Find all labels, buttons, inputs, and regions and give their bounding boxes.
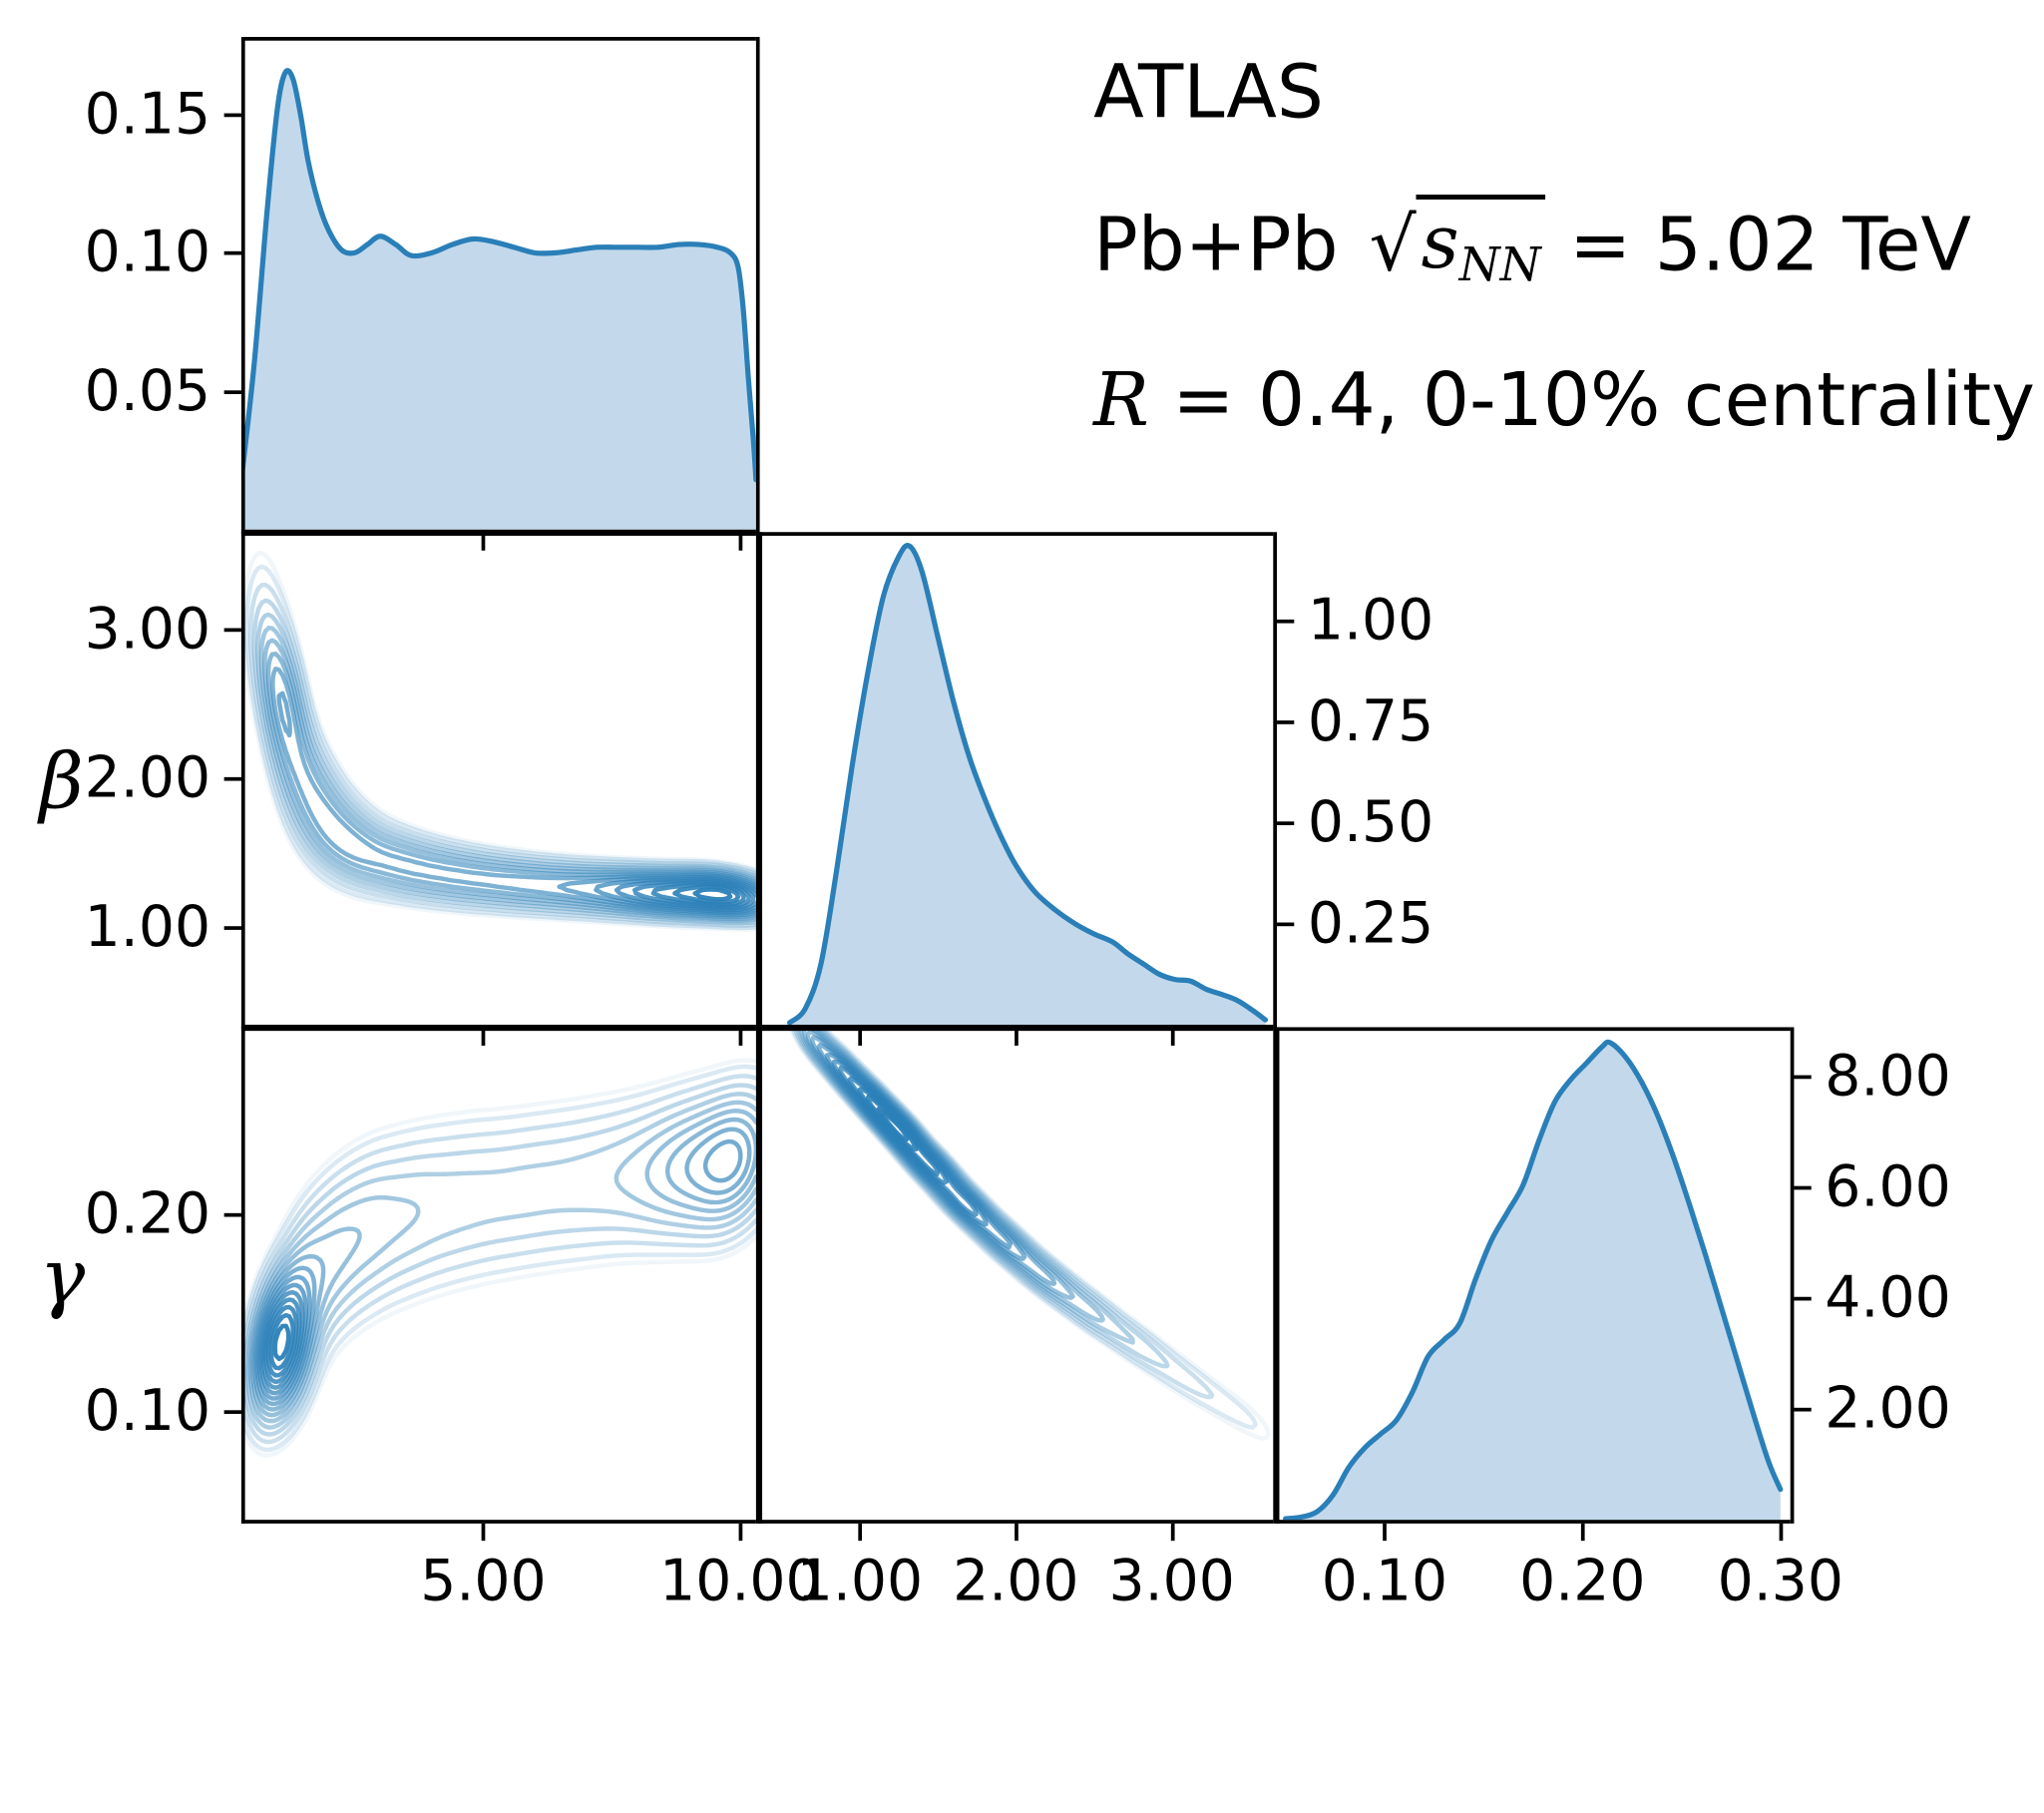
panel-gamma-vs-alpha xyxy=(241,1027,756,1520)
axis-label-beta-y: β xyxy=(39,736,83,826)
annotation-collision-system: Pb+Pb √sNN = 5.02 TeV xyxy=(1093,197,1971,293)
beta-alpha-contours xyxy=(241,532,756,1025)
panel-beta-marginal xyxy=(758,532,1273,1025)
panel-gamma-vs-beta xyxy=(758,1027,1273,1520)
xtick-beta-vs-alpha-1 xyxy=(739,1029,743,1046)
xtick-beta-marginal-2 xyxy=(1170,1029,1174,1046)
yticklabel-alpha-marginal-1: 0.10 xyxy=(0,224,210,280)
annotation-R-symbol: R xyxy=(1093,357,1149,443)
ytick-gamma-vs-alpha-0 xyxy=(224,1410,241,1414)
xtick-gamma-vs-beta-2 xyxy=(1170,1524,1174,1541)
annotation-R-value: = 0.4, 0-10% centrality xyxy=(1149,357,2035,443)
beta-marginal-kde xyxy=(758,532,1273,1025)
xtick-gamma-marginal-2 xyxy=(1780,1524,1784,1541)
yticklabel-beta-vs-alpha-0: 1.00 xyxy=(0,898,210,955)
annotation-jet-radius-centrality: R = 0.4, 0-10% centrality xyxy=(1093,357,2035,443)
spine-top-beta-vs-alpha xyxy=(241,532,756,536)
sqrt-group: √sNN xyxy=(1362,197,1546,293)
yticklabel-r-beta-marginal-2: 0.75 xyxy=(1308,692,1433,749)
ytick-r-gamma-marginal-1 xyxy=(1794,1297,1811,1301)
spine-left-gamma-marginal xyxy=(1276,1027,1280,1523)
spine-top-alpha-marginal xyxy=(241,37,756,41)
ytick-gamma-vs-alpha-1 xyxy=(224,1213,241,1217)
ytick-r-gamma-marginal-2 xyxy=(1794,1186,1811,1190)
ytick-beta-vs-alpha-2 xyxy=(224,628,241,632)
yticklabel-r-beta-marginal-3: 1.00 xyxy=(1308,592,1433,649)
ytick-r-gamma-marginal-0 xyxy=(1794,1408,1811,1412)
xtick-beta-vs-alpha-0 xyxy=(482,1029,486,1046)
xticklabel-gamma-marginal-1: 0.20 xyxy=(1471,1552,1693,1608)
xtick-gamma-vs-beta-1 xyxy=(1015,1524,1019,1541)
radical-sign: √ xyxy=(1369,202,1416,287)
xtick-alpha-marginal-1 xyxy=(739,533,743,550)
yticklabel-r-beta-marginal-0: 0.25 xyxy=(1308,894,1433,951)
yticklabel-r-gamma-marginal-3: 8.00 xyxy=(1825,1048,1950,1105)
yticklabel-gamma-vs-alpha-0: 0.10 xyxy=(0,1382,210,1439)
spine-bottom-gamma-marginal xyxy=(1276,1520,1791,1524)
yticklabel-gamma-vs-alpha-1: 0.20 xyxy=(0,1184,210,1241)
spine-left-alpha-marginal xyxy=(241,37,245,533)
spine-left-gamma-vs-beta xyxy=(758,1027,762,1523)
yticklabel-beta-vs-alpha-2: 3.00 xyxy=(0,600,210,657)
ytick-alpha-marginal-2 xyxy=(224,113,241,117)
ytick-r-beta-marginal-2 xyxy=(1277,720,1294,724)
radicand-s: s xyxy=(1422,200,1459,285)
corner-plot-figure: 5.0010.001.002.003.000.100.200.300.050.1… xyxy=(0,0,2044,1813)
panel-gamma-marginal xyxy=(1276,1027,1791,1520)
annotation-energy: = 5.02 TeV xyxy=(1546,202,1971,287)
xtick-gamma-vs-beta-0 xyxy=(859,1524,863,1541)
xticklabel-gamma-vs-beta-2: 3.00 xyxy=(1061,1552,1283,1608)
gamma-beta-contours xyxy=(758,1027,1273,1520)
spine-top-gamma-vs-alpha xyxy=(241,1027,756,1031)
ytick-r-beta-marginal-3 xyxy=(1277,620,1294,624)
panel-alpha-marginal xyxy=(241,37,756,530)
xticklabel-gamma-marginal-2: 0.30 xyxy=(1670,1552,1891,1608)
yticklabel-beta-vs-alpha-1: 2.00 xyxy=(0,748,210,805)
xtick-gamma-marginal-1 xyxy=(1581,1524,1585,1541)
ytick-beta-vs-alpha-0 xyxy=(224,926,241,930)
annotation-system-prefix: Pb+Pb xyxy=(1093,202,1362,287)
ytick-r-beta-marginal-1 xyxy=(1277,821,1294,825)
axis-label-gamma-y: γ xyxy=(39,1231,85,1321)
xtick-beta-marginal-1 xyxy=(1015,1029,1019,1046)
annotation-atlas: ATLAS xyxy=(1093,49,1324,135)
yticklabel-alpha-marginal-2: 0.15 xyxy=(0,85,210,142)
alpha-marginal-kde xyxy=(241,37,756,530)
gamma-alpha-contours xyxy=(241,1027,756,1520)
yticklabel-r-gamma-marginal-0: 2.00 xyxy=(1825,1380,1950,1437)
spine-left-beta-vs-alpha xyxy=(241,532,245,1028)
yticklabel-alpha-marginal-0: 0.05 xyxy=(0,361,210,418)
spine-bottom-gamma-vs-alpha xyxy=(241,1520,756,1524)
yticklabel-r-gamma-marginal-2: 6.00 xyxy=(1825,1158,1950,1215)
xtick-gamma-marginal-0 xyxy=(1384,1524,1388,1541)
spine-right-alpha-marginal xyxy=(756,37,760,533)
yticklabel-r-beta-marginal-1: 0.50 xyxy=(1308,793,1433,850)
spine-left-gamma-vs-alpha xyxy=(241,1027,245,1523)
xtick-gamma-vs-alpha-1 xyxy=(739,1524,743,1541)
radicand: sNN xyxy=(1417,195,1546,291)
gamma-marginal-kde xyxy=(1276,1027,1791,1520)
spine-top-gamma-marginal xyxy=(1276,1027,1791,1031)
xtick-beta-marginal-0 xyxy=(859,1029,863,1046)
ytick-alpha-marginal-0 xyxy=(224,390,241,394)
ytick-beta-vs-alpha-1 xyxy=(224,777,241,781)
ytick-r-beta-marginal-0 xyxy=(1277,923,1294,927)
panel-beta-vs-alpha xyxy=(241,532,756,1025)
xtick-gamma-vs-alpha-0 xyxy=(482,1524,486,1541)
radicand-subscript: NN xyxy=(1459,237,1541,291)
annotation-atlas-text: ATLAS xyxy=(1093,49,1324,135)
ytick-alpha-marginal-1 xyxy=(224,251,241,255)
ytick-r-gamma-marginal-3 xyxy=(1794,1076,1811,1080)
yticklabel-r-gamma-marginal-1: 4.00 xyxy=(1825,1269,1950,1326)
spine-right-beta-marginal xyxy=(1273,532,1277,1028)
xticklabel-gamma-vs-alpha-0: 5.00 xyxy=(372,1552,594,1608)
spine-left-beta-marginal xyxy=(758,532,762,1028)
spine-top-beta-marginal xyxy=(758,532,1273,536)
xticklabel-gamma-marginal-0: 0.10 xyxy=(1274,1552,1495,1608)
xtick-alpha-marginal-0 xyxy=(482,533,486,550)
spine-right-gamma-marginal xyxy=(1791,1027,1795,1523)
